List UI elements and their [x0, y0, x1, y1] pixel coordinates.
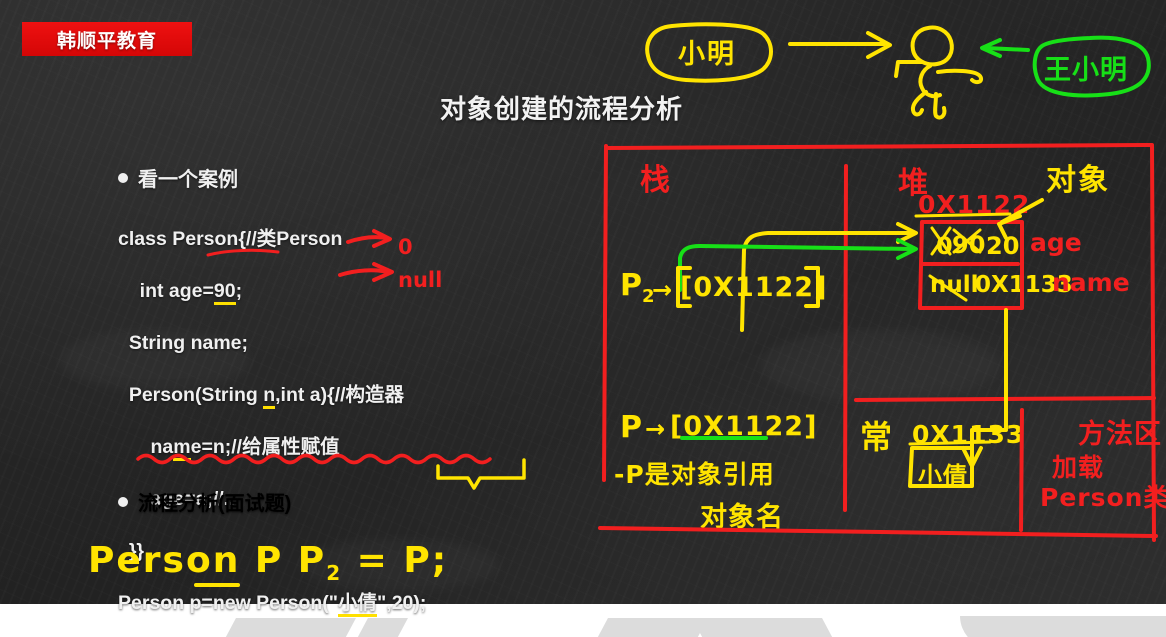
code-line-1: class Person{//类Person [118, 226, 588, 252]
constant-pool-label: 常 [860, 412, 892, 458]
constant-pool-address: 0X1133 [912, 420, 1024, 449]
heap-name-field-label: name [1052, 268, 1130, 297]
stack-p2-arrow: → [652, 276, 672, 304]
bullet-label: 流程分析(面试题) [138, 487, 291, 516]
stack-p-value: [0X1122] [670, 411, 817, 442]
stack-region-label: 栈 [640, 155, 670, 199]
annotation-name-default: null [398, 268, 442, 292]
heap-object-label: 对象 [1046, 155, 1110, 199]
watermark-shape [592, 618, 708, 637]
code-line-8: Person p=new Person("小倩",20); [118, 590, 588, 616]
bullet-item-flow: 流程分析(面试题) [118, 487, 291, 516]
bullet-dot-icon [118, 497, 128, 507]
stack-note-line1: -P是对象引用 [614, 455, 775, 491]
stack-p2-name: P2 [620, 268, 655, 307]
stack-p-arrow: → [645, 415, 665, 443]
stack-p-name: P [620, 410, 642, 445]
page-title: 对象创建的流程分析 [440, 89, 683, 126]
highlight-arg-xiaoqian: 小倩 [338, 592, 377, 617]
watermark-shape [1072, 618, 1166, 637]
heap-age-old: 0 [936, 232, 953, 260]
annotation-age-default: 0 [398, 235, 413, 259]
code-line-2: int age=90; [118, 278, 588, 304]
heap-age-old2: 90 [952, 231, 985, 259]
bottom-formula: Person P P2 = P; [88, 540, 448, 585]
bullet-label: 看一个案例 [138, 163, 238, 192]
brand-badge-label: 韩顺平教育 [57, 26, 157, 53]
chalk-smudge [760, 330, 1000, 400]
slide-screenshot: 韩顺平教育 对象创建的流程分析 看一个案例 class Person{//类Pe… [0, 0, 1166, 637]
brand-badge: 韩顺平教育 [22, 22, 192, 56]
method-area-line2: Person类 [1040, 478, 1166, 514]
sketch-label-wangxiaoming: 王小明 [1044, 48, 1128, 87]
method-area-label: 方法区 [1078, 412, 1162, 451]
stack-note-line2: 对象名 [700, 495, 784, 534]
highlight-name-m: m [173, 436, 190, 461]
highlight-age-value: 90 [214, 280, 236, 305]
highlight-param-n: n [263, 384, 275, 409]
heap-age-new: 20 [986, 232, 1019, 260]
code-line-5: name=n;//给属性赋值 [118, 434, 588, 460]
watermark-shape [692, 618, 838, 637]
sketch-label-xiaoming: 小明 [678, 32, 736, 71]
code-line-3: String name; [118, 330, 588, 356]
heap-address: 0X1122 [918, 190, 1030, 219]
constant-pool-value: 小倩 [918, 456, 968, 491]
heap-age-field-label: age [1030, 228, 1082, 257]
heap-name-old: null [930, 272, 979, 298]
bullet-item-case: 看一个案例 [118, 163, 588, 192]
code-line-4: Person(String n,int a){//构造器 [118, 382, 588, 408]
bullet-dot-icon [118, 173, 128, 183]
stack-p2-value: [0X1122] [680, 272, 827, 303]
